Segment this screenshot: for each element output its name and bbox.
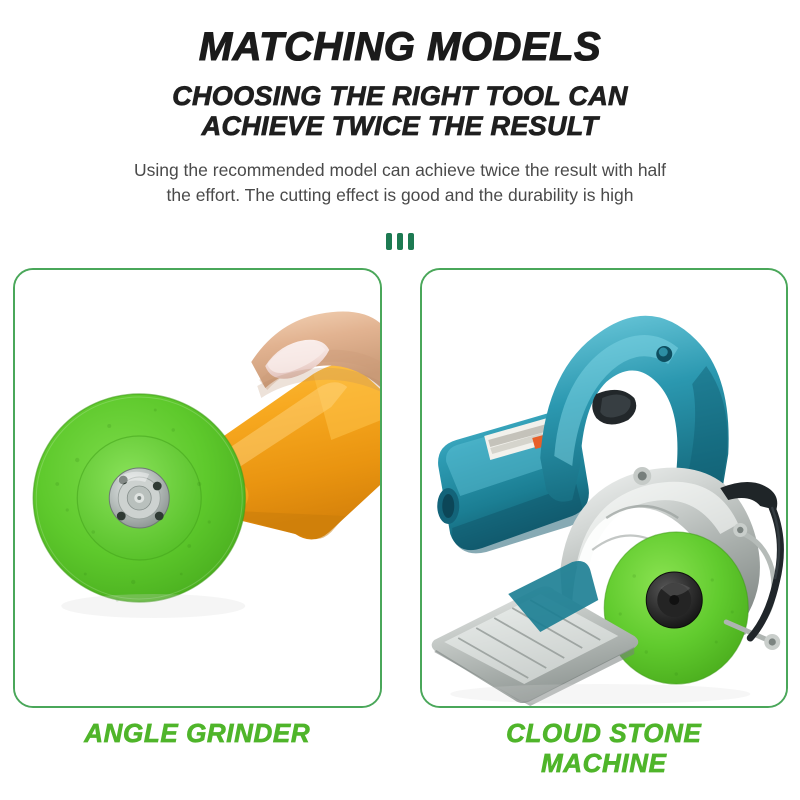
divider-tick	[397, 233, 403, 250]
subtitle-line-1: CHOOSING THE RIGHT TOOL CAN	[0, 81, 800, 111]
caption-line: CLOUD STONE	[420, 718, 789, 748]
description-line-1: Using the recommended model can achieve …	[60, 158, 740, 183]
angle-grinder-photo	[15, 270, 380, 706]
page-subtitle: CHOOSING THE RIGHT TOOL CAN ACHIEVE TWIC…	[0, 81, 800, 141]
subtitle-line-2: ACHIEVE TWICE THE RESULT	[0, 111, 800, 141]
header-block: MATCHING MODELS CHOOSING THE RIGHT TOOL …	[0, 0, 800, 208]
cutting-blade	[604, 532, 748, 684]
caption-line: MACHINE	[420, 748, 789, 778]
model-card-list	[13, 268, 788, 708]
cloud-stone-machine-photo	[422, 270, 787, 706]
page-title: MATCHING MODELS	[0, 26, 800, 69]
page-description: Using the recommended model can achieve …	[60, 158, 740, 209]
section-divider	[0, 233, 800, 250]
description-line-2: the effort. The cutting effect is good a…	[60, 183, 740, 208]
caption-row: ANGLE GRINDER CLOUD STONE MACHINE	[13, 714, 788, 794]
infographic-page: MATCHING MODELS CHOOSING THE RIGHT TOOL …	[0, 0, 800, 800]
caption-line: ANGLE GRINDER	[13, 718, 382, 748]
caption-angle-grinder: ANGLE GRINDER	[13, 714, 382, 794]
caption-cloud-stone-machine: CLOUD STONE MACHINE	[420, 714, 789, 794]
disc-hub-flange	[109, 468, 169, 528]
model-card-angle-grinder[interactable]	[13, 268, 382, 708]
divider-tick	[408, 233, 414, 250]
divider-tick	[386, 233, 392, 250]
model-card-cloud-stone-machine[interactable]	[420, 268, 789, 708]
